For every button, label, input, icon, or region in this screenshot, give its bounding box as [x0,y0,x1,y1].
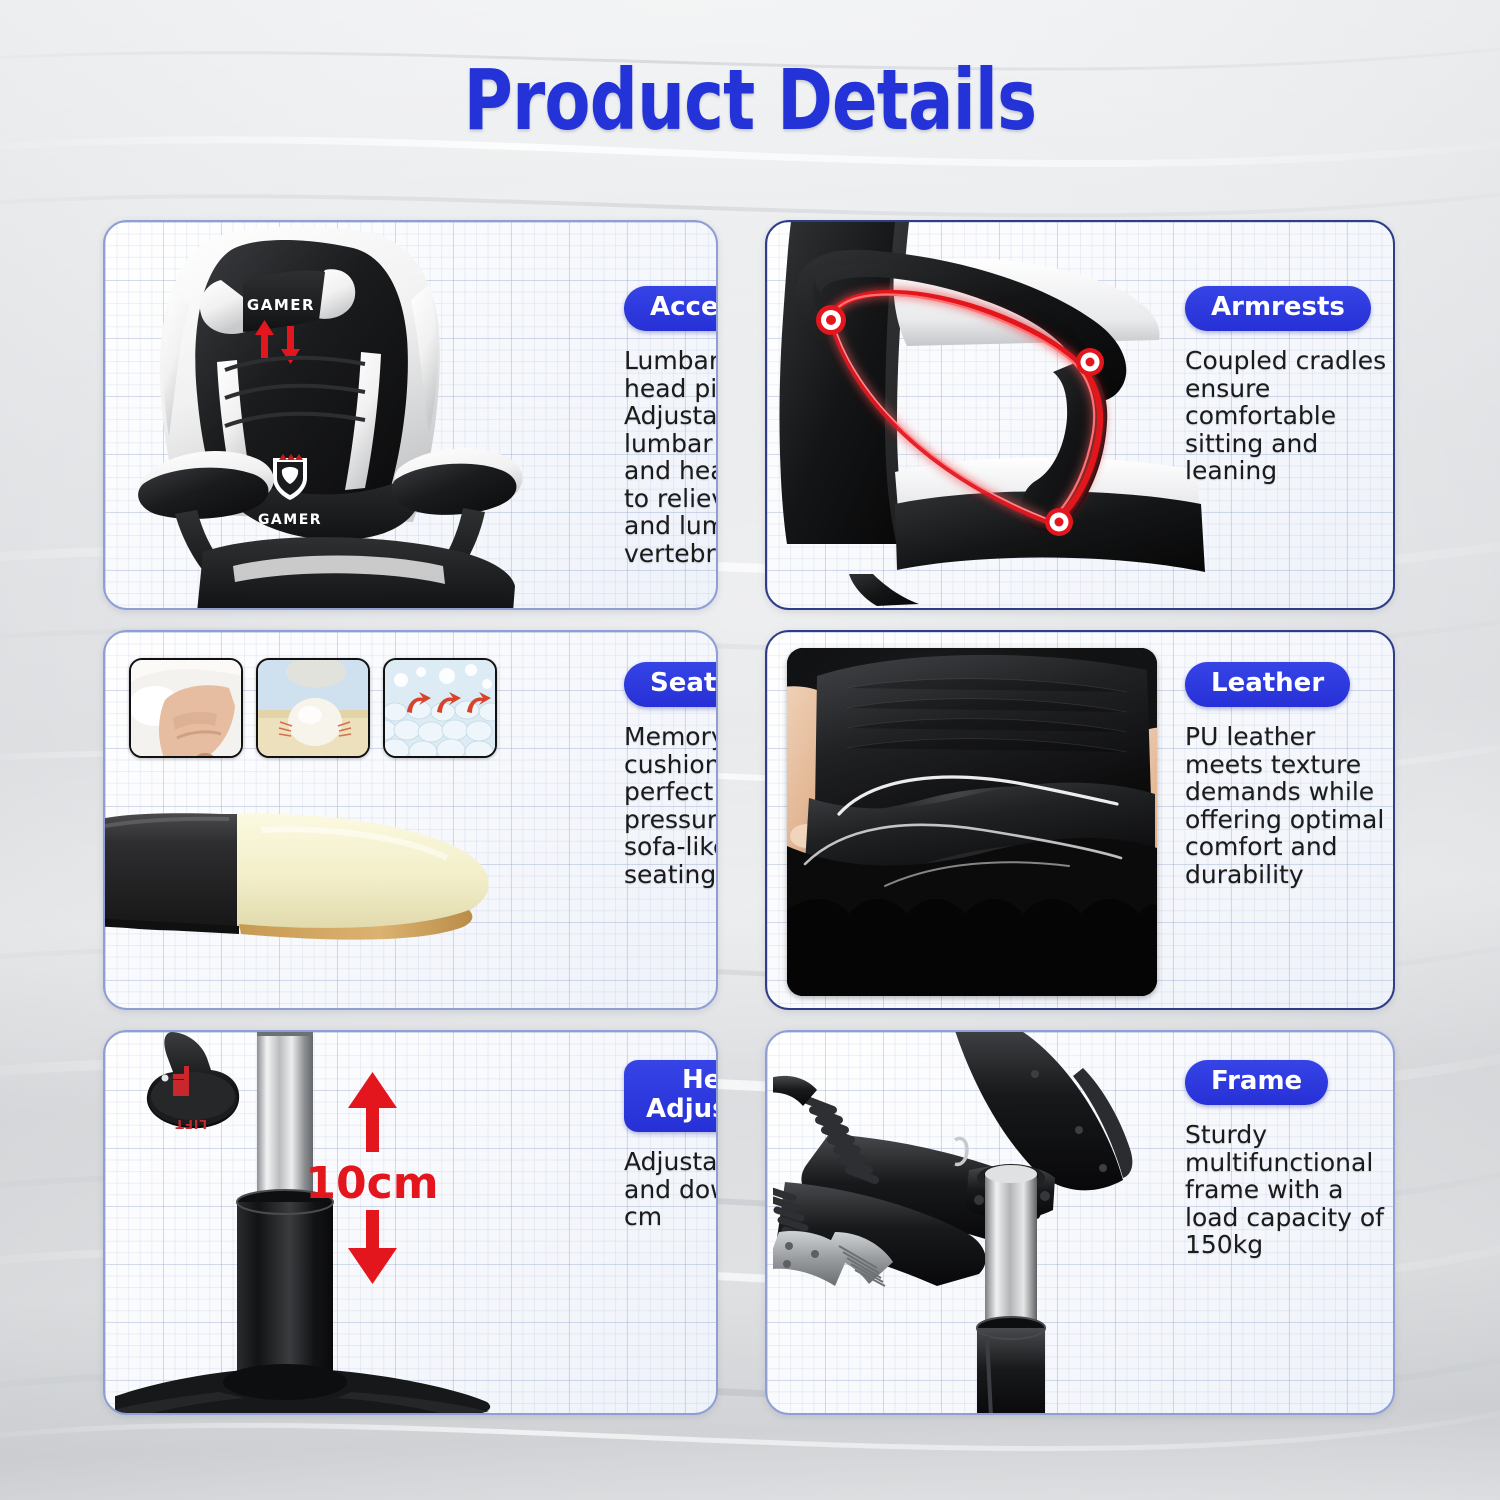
leather-text-column: Leather PU leather meets texture demands… [1185,662,1395,888]
target-dot-icon [1045,508,1073,536]
panel-seat-cushion: Seat Cushion Memory foam cushion for per… [103,630,718,1010]
target-dot-icon [816,305,846,335]
badge-leather: Leather [1185,662,1350,707]
breathable-cells-thumb [383,658,497,758]
cushion-thumbnail-row [129,658,497,758]
red-up-arrow-icon [348,1072,397,1152]
pu-leather-photo [787,648,1157,996]
badge-accessories: Accessories [624,286,718,331]
height-measurement-label: 10cm [305,1158,438,1209]
panel-armrests: Armrests Coupled cradles ensure comforta… [765,220,1395,610]
gas-lift-cylinder-photo: LIFT [115,1032,585,1415]
red-down-arrow-icon [348,1210,397,1284]
accessories-description: Lumbar and head pillow Adjustable lumbar… [624,347,718,567]
svg-text:LIFT: LIFT [175,1117,208,1131]
badge-line-1: Height [682,1065,718,1095]
svg-text:GAMER: GAMER [258,512,322,528]
badge-line-2: Adjustment [646,1094,718,1124]
badge-height-adjustment: Height Adjustment [624,1060,718,1132]
height-adjustment-description: Adjustable up and down by 10 cm [624,1148,718,1231]
seat-cushion-text-column: Seat Cushion Memory foam cushion for per… [624,662,718,888]
memory-foam-cushion-photo [103,800,571,950]
panel-height-adjustment: LIFT [103,1030,718,1415]
target-dot-icon [1076,348,1104,376]
panel-leather: Leather PU leather meets texture demands… [765,630,1395,1010]
frame-description: Sturdy multifunctional frame with a load… [1185,1121,1395,1259]
seat-cushion-description: Memory foam cushion for perfect hip pres… [624,723,718,888]
badge-frame: Frame [1185,1060,1328,1105]
badge-armrests: Armrests [1185,286,1371,331]
height-adjustment-text-column: Height Adjustment Adjustable up and down… [624,1060,718,1231]
panel-accessories: GAMER GAMER [103,220,718,610]
armrests-text-column: Armrests Coupled cradles ensure comforta… [1185,286,1395,485]
badge-seat-cushion: Seat Cushion [624,662,718,707]
egg-on-foam-thumb [256,658,370,758]
accessories-text-column: Accessories Lumbar and head pillow Adjus… [624,286,718,567]
hand-pressing-foam-thumb [129,658,243,758]
gaming-chair-photo: GAMER GAMER [113,222,533,610]
svg-text:GAMER: GAMER [247,296,315,314]
lift-lever-label: LIFT [175,1117,208,1131]
armrests-description: Coupled cradles ensure comfortable sitti… [1185,347,1395,485]
frame-text-column: Frame Sturdy multifunctional frame with … [1185,1060,1395,1259]
chair-frame-mechanism-photo [773,1032,1193,1415]
panel-frame: Frame Sturdy multifunctional frame with … [765,1030,1395,1415]
leather-description: PU leather meets texture demands while o… [1185,723,1395,888]
armrest-photo [777,222,1207,610]
page-title: Product Details [150,58,1350,142]
